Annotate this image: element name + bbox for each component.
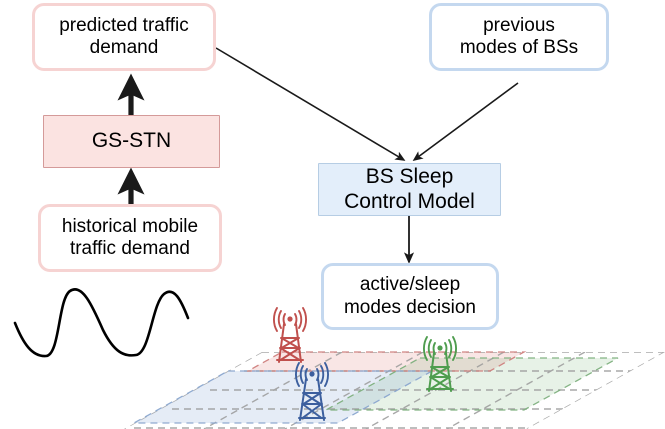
region-shapes: [134, 352, 618, 423]
green-region: [326, 358, 618, 410]
node-historical-mobile-traffic-demand[interactable]: historical mobile traffic demand: [38, 204, 222, 272]
waveform-curve: [15, 289, 188, 356]
node-label: predicted traffic demand: [59, 15, 189, 59]
node-previous-modes-of-bss[interactable]: previous modes of BSs: [429, 3, 609, 71]
node-gs-stn[interactable]: GS-STN: [43, 115, 220, 168]
node-label: previous modes of BSs: [460, 15, 578, 59]
grid-lines: [124, 352, 665, 429]
blue-tower: [296, 363, 328, 420]
region-outlines: [134, 352, 618, 423]
node-predicted-traffic-demand[interactable]: predicted traffic demand: [32, 3, 216, 71]
green-tower: [424, 337, 456, 391]
node-label: GS-STN: [92, 129, 171, 154]
node-active-sleep-modes-decision[interactable]: active/sleep modes decision: [321, 263, 499, 330]
blue-region: [134, 371, 432, 423]
node-label: BS Sleep Control Model: [344, 165, 475, 214]
diagram-canvas: predicted traffic demand GS-STN historic…: [0, 0, 665, 429]
node-label: historical mobile traffic demand: [62, 216, 198, 260]
red-tower: [274, 308, 306, 362]
edge-previousmodes-to-bssleep: [414, 83, 518, 160]
edge-predicted-to-bssleep: [216, 48, 404, 160]
node-bs-sleep-control-model[interactable]: BS Sleep Control Model: [318, 163, 501, 216]
red-region: [248, 352, 524, 371]
node-label: active/sleep modes decision: [344, 274, 476, 318]
